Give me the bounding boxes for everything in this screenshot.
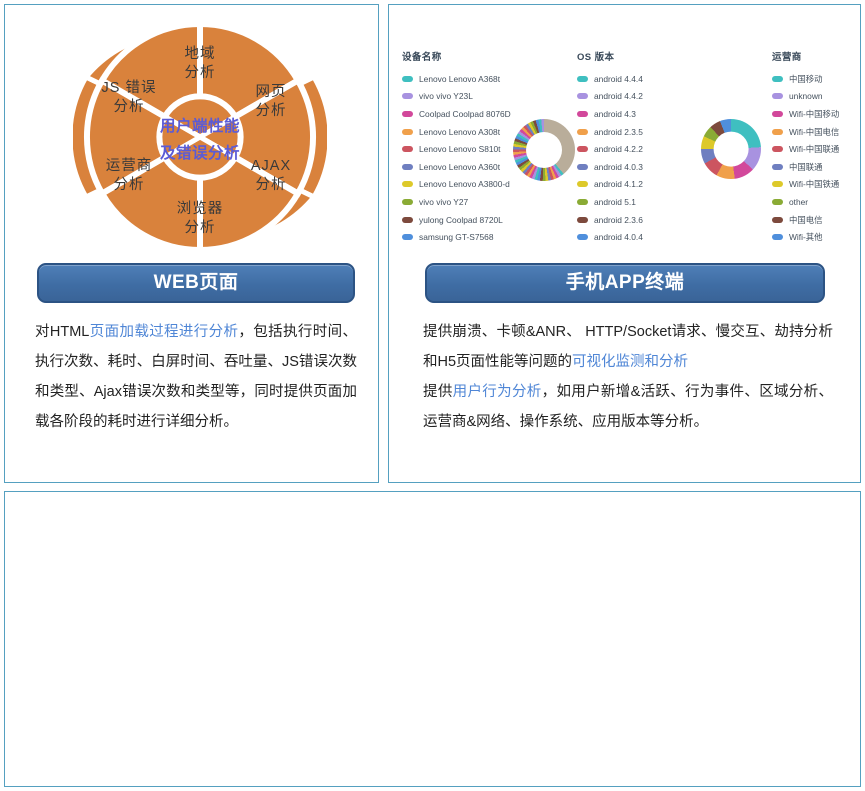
legend-item[interactable]: android 4.4.4	[577, 70, 643, 88]
legend-item[interactable]: Wifi-中国联通	[772, 140, 839, 158]
legend-item[interactable]: android 4.0.3	[577, 158, 643, 176]
legend-color-swatch-icon	[772, 129, 783, 135]
legend-title-os: OS 版本	[577, 49, 643, 63]
legend-item-label: Lenovo Lenovo A360t	[419, 162, 500, 172]
legend-color-swatch-icon	[577, 164, 588, 170]
legend-item[interactable]: Coolpad Coolpad 8076D	[402, 105, 511, 123]
legend-color-swatch-icon	[402, 199, 413, 205]
legend-items-os: android 4.4.4android 4.4.2android 4.3and…	[577, 70, 643, 246]
legend-item[interactable]: Wifi-中国移动	[772, 105, 839, 123]
legend-item[interactable]: 中国联通	[772, 158, 839, 176]
legend-color-swatch-icon	[402, 111, 413, 117]
legend-color-swatch-icon	[577, 234, 588, 240]
legend-item[interactable]: android 2.3.6	[577, 211, 643, 229]
legend-item[interactable]: Wifi-其他	[772, 228, 839, 246]
legend-color-swatch-icon	[402, 93, 413, 99]
legend-color-swatch-icon	[577, 93, 588, 99]
legend-item[interactable]: Wifi-中国铁通	[772, 176, 839, 194]
app-text-highlight-2: 用户行为分析	[453, 384, 542, 400]
legend-item-label: android 2.3.6	[594, 215, 643, 225]
legend-item-label: 中国移动	[789, 73, 823, 85]
legend-item-label: Lenovo Lenovo A3800-d	[419, 179, 510, 189]
legend-carrier: 运营商 中国移动unknownWifi-中国移动Wifi-中国电信Wifi-中国…	[772, 49, 839, 246]
legend-item[interactable]: Lenovo Lenovo A360t	[402, 158, 511, 176]
legend-item-label: Lenovo Lenovo A368t	[419, 74, 500, 84]
legend-color-swatch-icon	[772, 93, 783, 99]
legend-color-swatch-icon	[402, 217, 413, 223]
donut-hole-device	[526, 132, 562, 168]
legend-color-swatch-icon	[772, 76, 783, 82]
legend-item-label: Lenovo Lenovo A308t	[419, 127, 500, 137]
legend-item-label: android 4.3	[594, 109, 636, 119]
app-section-header: 手机APP终端	[425, 263, 825, 303]
legend-item-label: Lenovo Lenovo S810t	[419, 144, 501, 154]
legend-color-swatch-icon	[772, 111, 783, 117]
legend-item[interactable]: Lenovo Lenovo A368t	[402, 70, 511, 88]
legend-device-name: 设备名称 Lenovo Lenovo A368tvivo vivo Y23LCo…	[402, 49, 511, 246]
web-section-header: WEB页面	[37, 263, 355, 303]
legend-item[interactable]: android 4.3	[577, 105, 643, 123]
legend-title-device: 设备名称	[402, 49, 511, 63]
legend-item-label: samsung GT-S7568	[419, 232, 493, 242]
web-text-part-a: 对HTML	[35, 324, 89, 340]
legend-item-label: yulong Coolpad 8720L	[419, 215, 503, 225]
panel-mobile-app: 设备名称 Lenovo Lenovo A368tvivo vivo Y23LCo…	[388, 4, 861, 483]
legend-item[interactable]: samsung GT-S7568	[402, 228, 511, 246]
legend-item[interactable]: android 4.4.2	[577, 88, 643, 106]
legend-item-label: Wifi-其他	[789, 231, 823, 243]
legend-color-swatch-icon	[772, 217, 783, 223]
legend-item[interactable]: 中国移动	[772, 70, 839, 88]
legend-item-label: vivo vivo Y23L	[419, 91, 473, 101]
wheel-label-browser: 浏览器 分析	[162, 200, 238, 238]
legend-item[interactable]: vivo vivo Y23L	[402, 88, 511, 106]
legend-item[interactable]: Lenovo Lenovo A3800-d	[402, 176, 511, 194]
infographic-page: 地域 分析 网页 分析 AJAX 分析 浏览器 分析 运营商 分析 JS 错误 …	[0, 0, 865, 791]
legend-item-label: android 4.4.4	[594, 74, 643, 84]
legend-item-label: unknown	[789, 91, 823, 101]
donut-chart-carrier	[701, 119, 761, 179]
legend-color-swatch-icon	[772, 234, 783, 240]
app-text-highlight-1: 可视化监测和分析	[572, 354, 688, 370]
donut-hole-carrier	[714, 132, 749, 167]
legend-item[interactable]: Wifi-中国电信	[772, 123, 839, 141]
legend-item-label: android 4.0.3	[594, 162, 643, 172]
app-paragraph-2: 提供用户行为分析，如用户新增&活跃、行为事件、区域分析、运营商&网络、操作系统、…	[423, 377, 833, 437]
legend-item[interactable]: 中国电信	[772, 211, 839, 229]
legend-color-swatch-icon	[577, 111, 588, 117]
wheel-center-title: 用户端性能 及错误分析	[139, 113, 261, 167]
legend-item[interactable]: other	[772, 193, 839, 211]
legend-item-label: android 4.0.4	[594, 232, 643, 242]
legend-item-label: Wifi-中国联通	[789, 143, 839, 155]
legend-item[interactable]: Lenovo Lenovo S810t	[402, 140, 511, 158]
legend-item[interactable]: vivo vivo Y27	[402, 193, 511, 211]
legend-item[interactable]: unknown	[772, 88, 839, 106]
legend-item-label: 中国联通	[789, 161, 823, 173]
panel-web-page: 地域 分析 网页 分析 AJAX 分析 浏览器 分析 运营商 分析 JS 错误 …	[4, 4, 379, 483]
legend-item-label: android 4.1.2	[594, 179, 643, 189]
legend-color-swatch-icon	[772, 164, 783, 170]
web-text-highlight: 页面加载过程进行分析	[89, 324, 238, 340]
client-analysis-wheel: 地域 分析 网页 分析 AJAX 分析 浏览器 分析 运营商 分析 JS 错误 …	[73, 17, 327, 257]
legend-item[interactable]: android 4.2.2	[577, 140, 643, 158]
legend-item-label: android 4.2.2	[594, 144, 643, 154]
legend-item-label: Wifi-中国电信	[789, 126, 839, 138]
legend-color-swatch-icon	[577, 76, 588, 82]
panel-backend-service: APP-iOS APP-Android Web 通用业务 订单 支付服务 用户信…	[4, 491, 861, 787]
legend-color-swatch-icon	[772, 181, 783, 187]
legend-item-label: android 5.1	[594, 197, 636, 207]
legend-color-swatch-icon	[772, 146, 783, 152]
legend-item-label: Coolpad Coolpad 8076D	[419, 109, 511, 119]
legend-os-version: OS 版本 android 4.4.4android 4.4.2android …	[577, 49, 643, 246]
legend-title-carrier: 运营商	[772, 49, 839, 63]
legend-item-label: 中国电信	[789, 214, 823, 226]
legend-color-swatch-icon	[577, 181, 588, 187]
legend-item-label: vivo vivo Y27	[419, 197, 468, 207]
wheel-label-js-error: JS 错误 分析	[91, 79, 167, 117]
legend-item[interactable]: yulong Coolpad 8720L	[402, 211, 511, 229]
app-paragraph-1: 提供崩溃、卡顿&ANR、 HTTP/Socket请求、慢交互、劫持分析和H5页面…	[423, 317, 833, 377]
legend-color-swatch-icon	[577, 217, 588, 223]
legend-color-swatch-icon	[577, 199, 588, 205]
legend-color-swatch-icon	[402, 164, 413, 170]
legend-item[interactable]: android 4.1.2	[577, 176, 643, 194]
legend-item[interactable]: android 5.1	[577, 193, 643, 211]
web-description: 对HTML页面加载过程进行分析，包括执行时间、执行次数、耗时、白屏时间、吞吐量、…	[35, 317, 357, 437]
donut-chart-device	[513, 119, 575, 181]
legend-color-swatch-icon	[402, 129, 413, 135]
legend-color-swatch-icon	[577, 146, 588, 152]
web-paragraph: 对HTML页面加载过程进行分析，包括执行时间、执行次数、耗时、白屏时间、吞吐量、…	[35, 317, 357, 437]
legend-color-swatch-icon	[402, 76, 413, 82]
app-description: 提供崩溃、卡顿&ANR、 HTTP/Socket请求、慢交互、劫持分析和H5页面…	[423, 317, 833, 437]
legend-item[interactable]: android 4.0.4	[577, 228, 643, 246]
legend-item-label: other	[789, 197, 808, 207]
wheel-label-region: 地域 分析	[162, 45, 238, 83]
legend-color-swatch-icon	[577, 129, 588, 135]
legend-items-device: Lenovo Lenovo A368tvivo vivo Y23LCoolpad…	[402, 70, 511, 246]
legend-items-carrier: 中国移动unknownWifi-中国移动Wifi-中国电信Wifi-中国联通中国…	[772, 70, 839, 246]
legend-item-label: Wifi-中国移动	[789, 108, 839, 120]
legend-color-swatch-icon	[402, 181, 413, 187]
legend-item-label: android 2.3.5	[594, 127, 643, 137]
legend-item[interactable]: Lenovo Lenovo A308t	[402, 123, 511, 141]
legend-item-label: Wifi-中国铁通	[789, 178, 839, 190]
legend-item-label: android 4.4.2	[594, 91, 643, 101]
legend-color-swatch-icon	[772, 199, 783, 205]
legend-item[interactable]: android 2.3.5	[577, 123, 643, 141]
app-text-part-b: 提供	[423, 384, 453, 400]
legend-color-swatch-icon	[402, 234, 413, 240]
legend-color-swatch-icon	[402, 146, 413, 152]
